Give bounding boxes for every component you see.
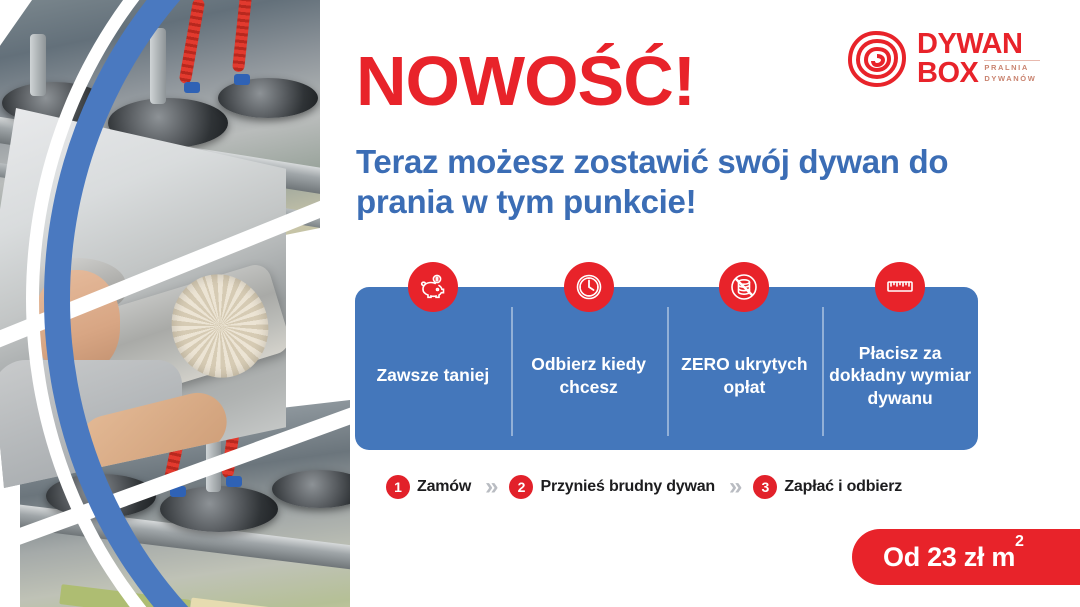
features-panel: Zawsze taniej Odbierz kiedy chcesz (355, 287, 978, 450)
feature-label: Odbierz kiedy chcesz (517, 353, 661, 398)
step-item: 3 Zapłać i odbierz (753, 475, 902, 499)
price-value: Od 23 zł m (883, 542, 1015, 572)
logo-name-line1: DYWAN (917, 30, 1022, 59)
price-text: Od 23 zł m2 (883, 542, 1024, 573)
price-badge[interactable]: Od 23 zł m2 (852, 529, 1080, 585)
feature-label: Zawsze taniej (376, 364, 489, 386)
step-separator-icon: » (482, 473, 498, 501)
feature-item: Odbierz kiedy chcesz (511, 287, 667, 450)
step-number: 3 (753, 475, 777, 499)
headline-subheadline: Teraz możesz zostawić swój dywan do pran… (356, 142, 1016, 223)
feature-item: ZERO ukrytych opłat (667, 287, 823, 450)
feature-label: Płacisz za dokładny wymiar dywanu (828, 342, 972, 409)
step-label: Zamów (417, 478, 471, 496)
headline-eyebrow: NOWOŚĆ! (356, 46, 695, 116)
step-item: 2 Przynieś brudny dywan (509, 475, 715, 499)
logo-tagline-rule (984, 60, 1040, 61)
feature-item: Zawsze taniej (355, 287, 511, 450)
ruler-icon (875, 262, 925, 312)
step-number: 2 (509, 475, 533, 499)
logo-tagline: PRALNIA DYWANÓW (984, 60, 1040, 88)
logo-tagline-line1: PRALNIA (984, 63, 1040, 74)
step-item: 1 Zamów (386, 475, 471, 499)
price-unit-exponent: 2 (1015, 533, 1024, 550)
piggy-bank-icon (408, 262, 458, 312)
steps-row: 1 Zamów » 2 Przynieś brudny dywan » 3 Za… (386, 473, 902, 501)
feature-item: Płacisz za dokładny wymiar dywanu (822, 287, 978, 450)
content-area: DYWAN BOX PRALNIA DYWANÓW NOWOŚĆ! Teraz … (0, 0, 1080, 607)
brand-logo[interactable]: DYWAN BOX PRALNIA DYWANÓW (846, 28, 1042, 90)
feature-label: ZERO ukrytych opłat (673, 353, 817, 398)
step-label: Przynieś brudny dywan (540, 478, 715, 496)
logo-tagline-line2: DYWANÓW (984, 74, 1040, 85)
step-number: 1 (386, 475, 410, 499)
no-coins-icon (719, 262, 769, 312)
promo-banner: DYWAN BOX PRALNIA DYWANÓW NOWOŚĆ! Teraz … (0, 0, 1080, 607)
clock-icon (564, 262, 614, 312)
step-label: Zapłać i odbierz (784, 478, 902, 496)
logo-name-line2: BOX (917, 59, 978, 88)
dywanbox-spiral-icon (846, 30, 908, 88)
step-separator-icon: » (726, 473, 742, 501)
